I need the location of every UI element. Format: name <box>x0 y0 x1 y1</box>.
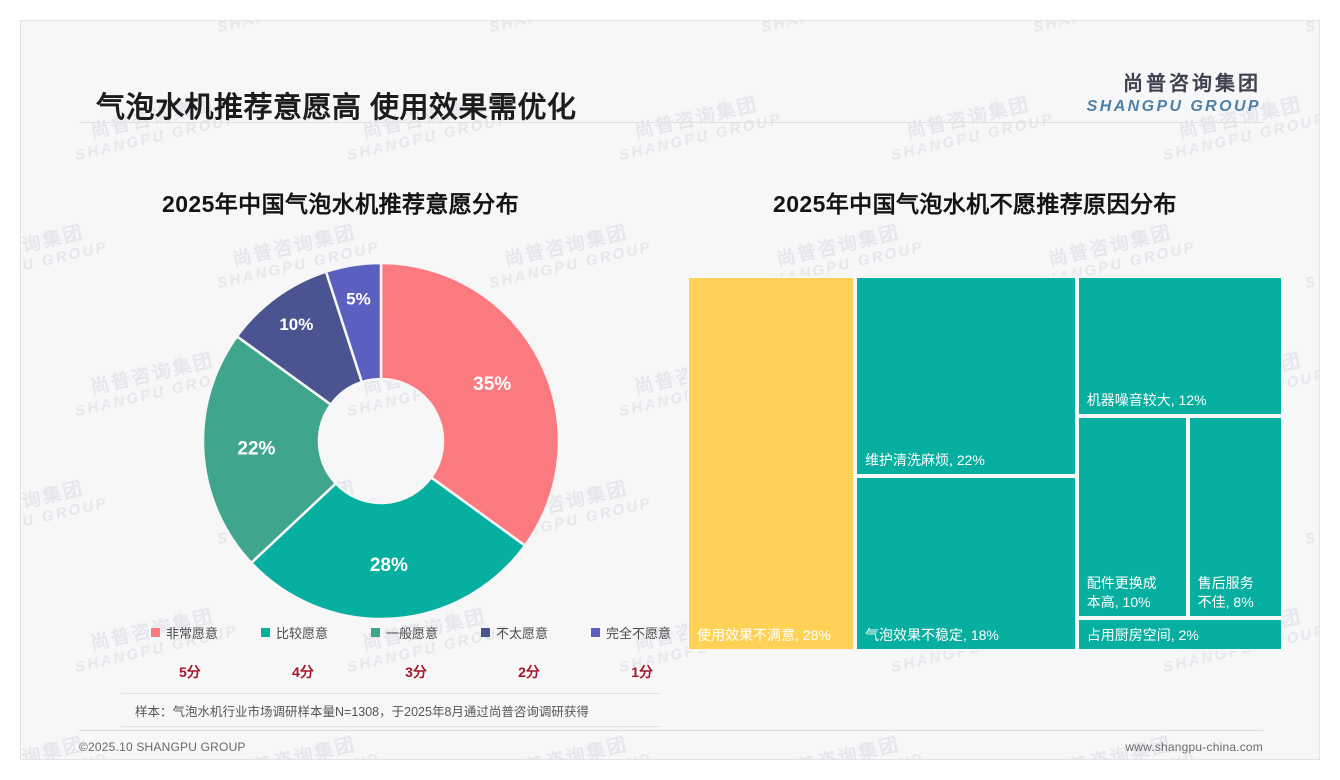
brand-logo-cn: 尚普咨询集团 <box>1087 67 1261 96</box>
recommendation-donut-chart: 35%28%22%10%5% <box>201 261 561 621</box>
score-label: 5分 <box>179 662 201 682</box>
brand-logo-en: SHANGPU GROUP <box>1087 98 1261 116</box>
legend-label: 不太愿意 <box>496 623 548 642</box>
treemap-cell[interactable]: 维护清洗麻烦, 22% <box>855 276 1077 476</box>
legend-swatch-icon <box>371 628 380 637</box>
legend-item[interactable]: 比较愿意 <box>261 623 328 642</box>
sample-footnote: 样本：气泡水机行业市场调研样本量N=1308，于2025年8月通过尚普咨询调研获… <box>121 701 589 720</box>
watermark-text: 尚普咨询集团SHANGPU GROUP <box>20 475 110 548</box>
reasons-treemap-chart: 使用效果不满意, 28%维护清洗麻烦, 22%气泡效果不稳定, 18%机器噪音较… <box>687 276 1283 651</box>
slide-footer: ©2025.10 SHANGPU GROUP www.shangpu-china… <box>79 733 1263 760</box>
treemap-cell[interactable]: 配件更换成 本高, 10% <box>1077 416 1188 617</box>
score-label: 4分 <box>292 662 314 682</box>
legend-swatch-icon <box>481 628 490 637</box>
legend-label: 完全不愿意 <box>606 623 671 642</box>
left-chart-title: 2025年中国气泡水机推荐意愿分布 <box>162 185 519 219</box>
score-label: 1分 <box>631 662 653 682</box>
treemap-cell-label: 气泡效果不稳定, 18% <box>865 626 999 645</box>
legend-swatch-icon <box>591 628 600 637</box>
legend-item[interactable]: 不太愿意 <box>481 623 548 642</box>
watermark-text: 尚普咨询集团SHANGPU GROUP <box>1299 731 1320 760</box>
treemap-cell[interactable]: 售后服务 不佳, 8% <box>1188 416 1283 617</box>
header-divider <box>79 122 1263 123</box>
slide-header: 气泡水机推荐意愿高 使用效果需优化 尚普咨询集团 SHANGPU GROUP <box>21 21 1319 121</box>
score-label: 2分 <box>518 662 540 682</box>
treemap-cell-label: 维护清洗麻烦, 22% <box>865 451 985 470</box>
donut-legend: 非常愿意比较愿意一般愿意不太愿意完全不愿意 <box>151 621 671 643</box>
right-chart-title: 2025年中国气泡水机不愿推荐原因分布 <box>773 185 1177 219</box>
copyright-text: ©2025.10 SHANGPU GROUP <box>79 740 246 754</box>
treemap-cell[interactable]: 气泡效果不稳定, 18% <box>855 476 1077 651</box>
watermark-text: 尚普咨询集团SHANGPU GROUP <box>1299 475 1320 548</box>
donut-slice-label: 10% <box>279 315 313 334</box>
treemap-cell-label: 占用厨房空间, 2% <box>1087 626 1199 645</box>
treemap-cell[interactable]: 机器噪音较大, 12% <box>1077 276 1283 416</box>
score-scale-row: 5分4分3分2分1分 <box>151 661 671 683</box>
treemap-cell-label: 配件更换成 本高, 10% <box>1087 574 1157 612</box>
watermark-text: 尚普咨询集团SHANGPU GROUP <box>20 219 110 292</box>
watermark-text: 尚普咨询集团SHANGPU GROUP <box>1299 219 1320 292</box>
legend-swatch-icon <box>261 628 270 637</box>
score-label: 3分 <box>405 662 427 682</box>
donut-svg: 35%28%22%10%5% <box>201 261 561 621</box>
donut-slice-label: 28% <box>370 555 408 576</box>
treemap-cell-label: 机器噪音较大, 12% <box>1087 391 1207 410</box>
slide-canvas: 尚普咨询集团SHANGPU GROUP尚普咨询集团SHANGPU GROUP尚普… <box>20 20 1320 760</box>
legend-item[interactable]: 完全不愿意 <box>591 623 671 642</box>
legend-label: 比较愿意 <box>276 623 328 642</box>
legend-swatch-icon <box>151 628 160 637</box>
legend-item[interactable]: 非常愿意 <box>151 623 218 642</box>
treemap-cell[interactable]: 使用效果不满意, 28% <box>687 276 855 651</box>
legend-label: 非常愿意 <box>166 623 218 642</box>
donut-slice-label: 35% <box>473 374 511 395</box>
donut-slice-label: 22% <box>237 438 275 459</box>
treemap-cell[interactable]: 占用厨房空间, 2% <box>1077 618 1283 651</box>
footnote-container: 样本：气泡水机行业市场调研样本量N=1308，于2025年8月通过尚普咨询调研获… <box>121 693 661 727</box>
page-title: 气泡水机推荐意愿高 使用效果需优化 <box>96 84 577 126</box>
legend-item[interactable]: 一般愿意 <box>371 623 438 642</box>
donut-slice-label: 5% <box>346 289 371 308</box>
footer-divider <box>79 730 1263 731</box>
brand-logo: 尚普咨询集团 SHANGPU GROUP <box>1087 67 1261 116</box>
website-text: www.shangpu-china.com <box>1125 740 1263 754</box>
treemap-cell-label: 使用效果不满意, 28% <box>697 626 831 645</box>
legend-label: 一般愿意 <box>386 623 438 642</box>
treemap-cell-label: 售后服务 不佳, 8% <box>1198 574 1254 612</box>
